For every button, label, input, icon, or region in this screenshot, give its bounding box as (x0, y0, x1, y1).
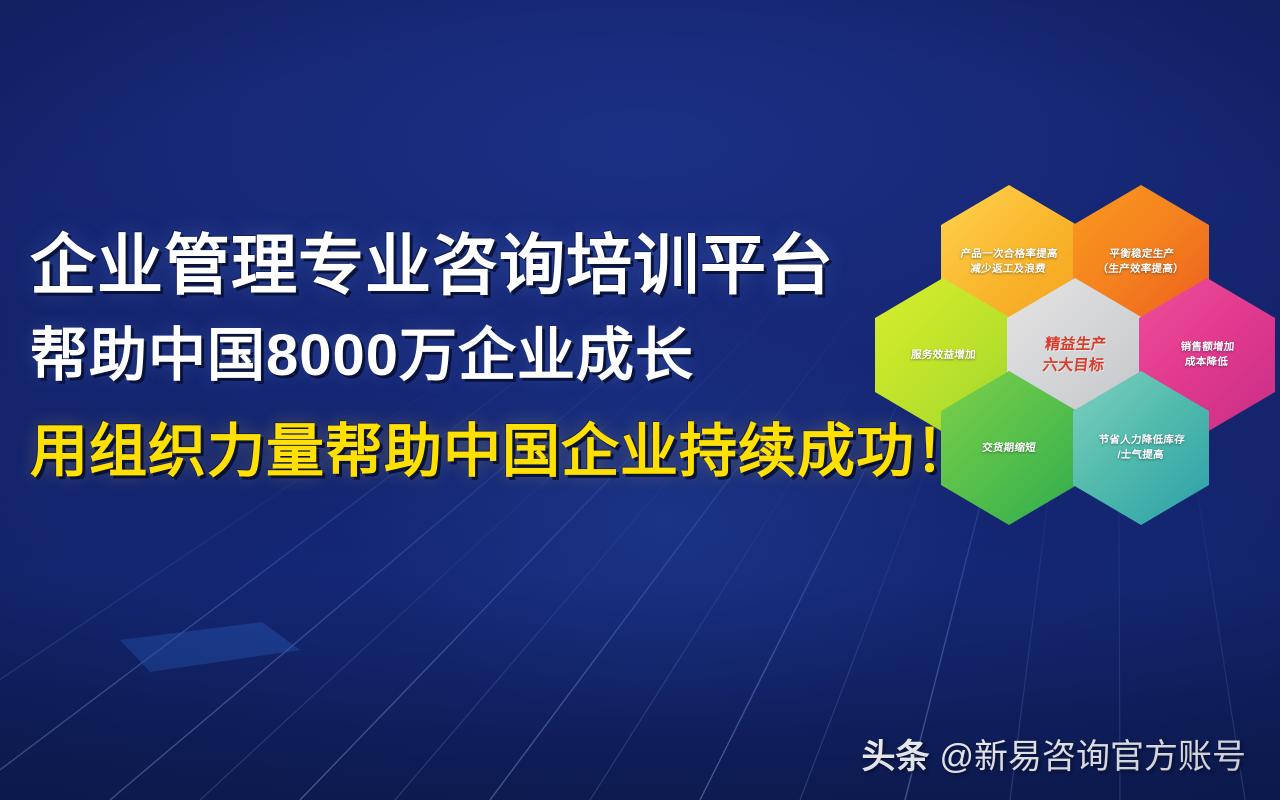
hex-line-1: 平衡稳定生产 (1109, 248, 1175, 260)
hex-line-2: 成本降低 (1184, 356, 1228, 368)
hex-line-2: 减少返工及浪费 (970, 263, 1046, 275)
hex-line-1: 销售额增加 (1180, 341, 1235, 353)
hex-line-1: 节省人力降低库存 (1098, 434, 1185, 446)
headline-primary: 企业管理专业咨询培训平台 (30, 222, 950, 308)
headline-tagline: 用组织力量帮助中国企业持续成功！ (30, 404, 950, 500)
hex-cell-center-label: 精益生产 六大目标 (1030, 334, 1120, 376)
hex-line-1: 产品一次合格率提高 (961, 248, 1059, 260)
hex-cell-bottom-left-label: 交货期缩短 (969, 441, 1048, 456)
hex-cell-top-left-label: 产品一次合格率提高 减少返工及浪费 (947, 247, 1070, 277)
lean-production-hex-diagram: 产品一次合格率提高 减少返工及浪费 平衡稳定生产 （生产效率提高） 服务效益增加… (895, 185, 1255, 525)
hex-line-2: （生产效率提高） (1097, 263, 1184, 275)
hex-line-1: 交货期缩短 (982, 442, 1037, 454)
watermark: 头条 @新易咨询官方账号 (861, 729, 1246, 778)
hex-line-2: 六大目标 (1042, 357, 1105, 374)
watermark-handle: @新易咨询官方账号 (939, 729, 1246, 778)
hex-line-1: 服务效益增加 (910, 349, 976, 361)
hex-line-2: /士气提高 (1117, 449, 1164, 461)
hex-line-1: 精益生产 (1045, 336, 1108, 353)
hex-cell-bottom-right-label: 节省人力降低库存 /士气提高 (1085, 433, 1198, 463)
headline-secondary: 帮助中国8000万企业成长 (30, 308, 950, 404)
hex-cell-left-label: 服务效益增加 (898, 348, 988, 363)
hex-cell-top-right-label: 平衡稳定生产 （生产效率提高） (1085, 247, 1198, 277)
hex-cell-right-label: 销售额增加 成本降低 (1167, 340, 1247, 370)
watermark-platform: 头条 (861, 729, 929, 778)
promo-banner: 企业管理专业咨询培训平台 帮助中国8000万企业成长 用组织力量帮助中国企业持续… (0, 0, 1280, 800)
headline-group: 企业管理专业咨询培训平台 帮助中国8000万企业成长 用组织力量帮助中国企业持续… (30, 222, 950, 500)
floor-tile-highlight (120, 622, 300, 672)
